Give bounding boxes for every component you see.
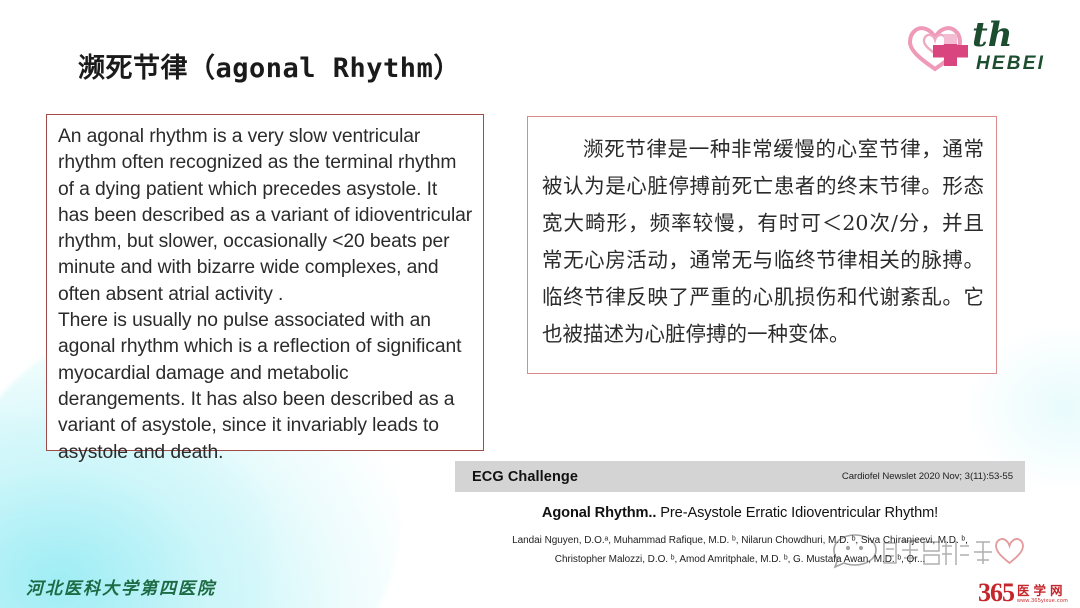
english-paragraph-2: There is usually no pulse associated wit… bbox=[58, 308, 473, 466]
chinese-paragraph: 濒死节律是一种非常缓慢的心室节律，通常被认为是心脏停搏前死亡患者的终末节律。形态… bbox=[542, 131, 984, 353]
brand-365-text-group: 医学网 www.365yixue.com bbox=[1017, 585, 1068, 604]
ecg-journal-citation: Cardiofel Newslet 2020 Nov; 3(11):53-55 bbox=[842, 471, 1013, 482]
page-title: 濒死节律（agonal Rhythm） bbox=[78, 46, 461, 85]
brand-365-chinese: 医学网 bbox=[1017, 585, 1067, 598]
ecg-journal-panel: ECG Challenge Cardiofel Newslet 2020 Nov… bbox=[455, 461, 1025, 574]
ecg-article-title: Agonal Rhythm.. Pre-Asystole Erratic Idi… bbox=[455, 505, 1025, 521]
logo-th-text: th bbox=[972, 15, 1012, 55]
ecg-challenge-label: ECG Challenge bbox=[472, 469, 578, 485]
brand-365-number: 365 bbox=[978, 582, 1014, 604]
brand-365-url: www.365yixue.com bbox=[1017, 599, 1068, 604]
ecg-author-line-1: Landai Nguyen, D.O.ᵃ, Muhammad Rafique, … bbox=[455, 531, 1025, 550]
english-paragraph-1: An agonal rhythm is a very slow ventricu… bbox=[58, 124, 473, 308]
slide-canvas: 濒死节律（agonal Rhythm） th HEBEI An agonal r… bbox=[0, 0, 1080, 608]
ecg-article-title-bold: Agonal Rhythm.. bbox=[542, 505, 656, 521]
ecg-article-title-rest: Pre-Asystole Erratic Idioventricular Rhy… bbox=[656, 505, 938, 521]
hebei-4th-hospital-logo: th HEBEI bbox=[900, 12, 1046, 78]
hospital-name-footer: 河北医科大学第四医院 bbox=[26, 574, 216, 599]
chinese-description-box: 濒死节律是一种非常缓慢的心室节律，通常被认为是心脏停搏前死亡患者的终末节律。形态… bbox=[527, 116, 997, 374]
english-description-box: An agonal rhythm is a very slow ventricu… bbox=[46, 114, 484, 451]
ecg-author-line-2: Christopher Malozzi, D.O. ᵇ, Amod Amritp… bbox=[455, 550, 1025, 569]
ecg-author-list: Landai Nguyen, D.O.ᵃ, Muhammad Rafique, … bbox=[455, 531, 1025, 569]
ecg-panel-header: ECG Challenge Cardiofel Newslet 2020 Nov… bbox=[455, 461, 1025, 492]
brand-365-watermark: 365 医学网 www.365yixue.com bbox=[978, 582, 1068, 604]
logo-hebei-text: HEBEI bbox=[976, 53, 1045, 74]
